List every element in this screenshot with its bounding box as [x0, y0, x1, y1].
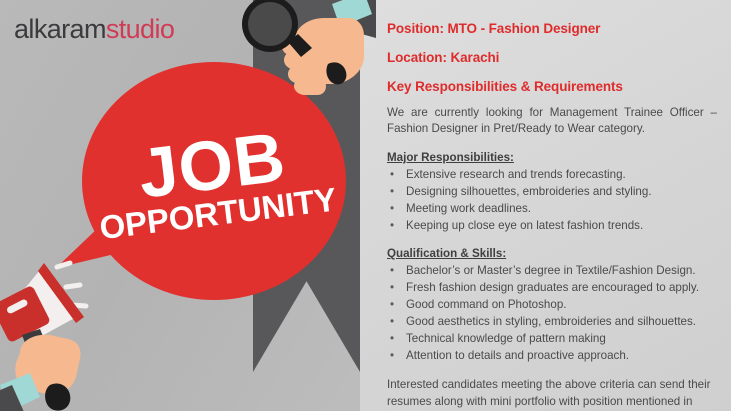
major-responsibilities-title: Major Responsibilities: — [387, 151, 717, 164]
key-responsibilities-heading: Key Responsibilities & Requirements — [387, 79, 717, 94]
list-item: •Good command on Photoshop. — [387, 296, 717, 313]
bullet-icon: • — [390, 183, 394, 200]
job-advertisement-poster: alkaramstudio JOB OPPORTUNITY — [0, 0, 731, 411]
list-item: •Technical knowledge of pattern making — [387, 330, 717, 347]
megaphone-icon — [0, 245, 164, 411]
list-item-label: Meeting work deadlines. — [406, 202, 531, 215]
list-item-label: Good command on Photoshop. — [406, 298, 566, 311]
list-item: •Keeping up close eye on latest fashion … — [387, 217, 717, 234]
location-heading: Location: Karachi — [387, 50, 717, 65]
list-item-label: Bachelor’s or Master’s degree in Textile… — [406, 264, 696, 277]
qualification-skills-list: •Bachelor’s or Master’s degree in Textil… — [387, 262, 717, 364]
major-responsibilities-list: •Extensive research and trends forecasti… — [387, 166, 717, 234]
qualification-skills-title: Qualification & Skills: — [387, 247, 717, 260]
list-item-label: Fresh fashion design graduates are encou… — [406, 281, 699, 294]
bullet-icon: • — [390, 262, 394, 279]
bullet-icon: • — [390, 347, 394, 364]
job-details-column: Position: MTO - Fashion Designer Locatio… — [387, 21, 717, 411]
list-item: •Attention to details and proactive appr… — [387, 347, 717, 364]
position-heading: Position: MTO - Fashion Designer — [387, 21, 717, 36]
hand-with-magnifier-illustration — [236, 0, 376, 100]
brand-logo-secondary: studio — [106, 14, 174, 44]
closing-paragraph: Interested candidates meeting the above … — [387, 377, 717, 411]
brand-logo: alkaramstudio — [14, 14, 174, 45]
hand-with-megaphone-illustration — [0, 245, 164, 411]
list-item: •Fresh fashion design graduates are enco… — [387, 279, 717, 296]
bullet-icon: • — [390, 313, 394, 330]
list-item-label: Good aesthetics in styling, embroideries… — [406, 315, 696, 328]
bullet-icon: • — [390, 279, 394, 296]
bullet-icon: • — [390, 217, 394, 234]
list-item: •Meeting work deadlines. — [387, 200, 717, 217]
list-item: •Designing silhouettes, embroideries and… — [387, 183, 717, 200]
list-item: •Good aesthetics in styling, embroiderie… — [387, 313, 717, 330]
bullet-icon: • — [390, 200, 394, 217]
list-item-label: Extensive research and trends forecastin… — [406, 168, 626, 181]
closing-text-before-email: Interested candidates meeting the above … — [387, 378, 711, 411]
intro-paragraph: We are currently looking for Management … — [387, 105, 717, 138]
bullet-icon: • — [390, 330, 394, 347]
list-item-label: Designing silhouettes, embroideries and … — [406, 185, 652, 198]
bullet-icon: • — [390, 296, 394, 313]
list-item-label: Attention to details and proactive appro… — [406, 349, 629, 362]
brand-logo-primary: alkaram — [14, 14, 106, 44]
list-item-label: Technical knowledge of pattern making — [406, 332, 606, 345]
list-item: •Bachelor’s or Master’s degree in Textil… — [387, 262, 717, 279]
magnifier-icon — [236, 0, 376, 100]
list-item: •Extensive research and trends forecasti… — [387, 166, 717, 183]
list-item-label: Keeping up close eye on latest fashion t… — [406, 219, 643, 232]
bullet-icon: • — [390, 166, 394, 183]
